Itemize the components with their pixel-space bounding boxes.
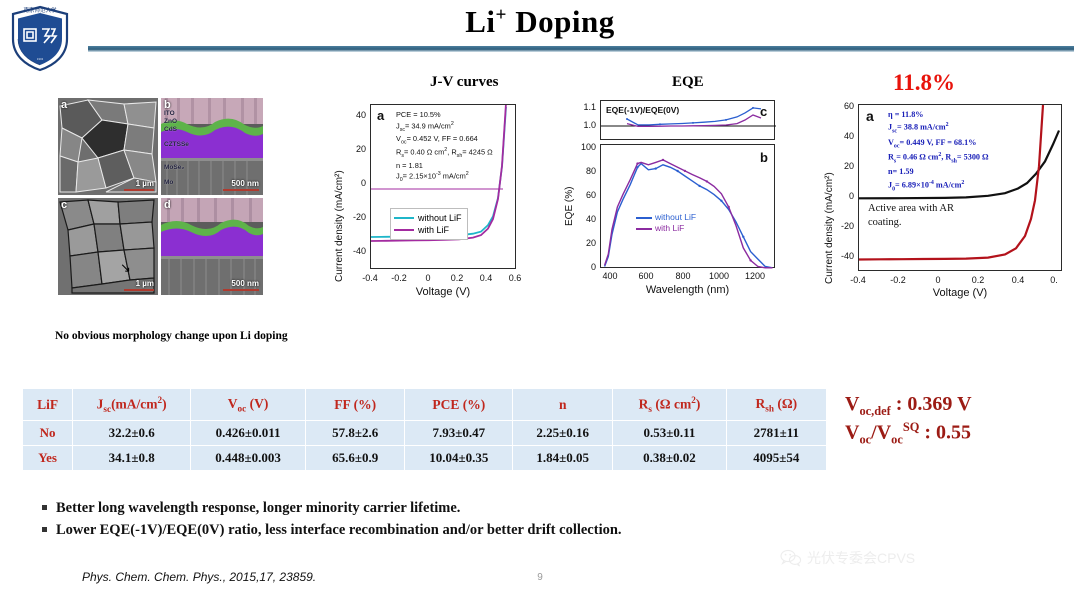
eqe-x-axis-label: Wavelength (nm) <box>600 284 775 296</box>
jv-x-tick: 0.2 <box>443 273 471 283</box>
cell-pce: 10.04±0.35 <box>405 446 513 471</box>
col-header-rs: Rs (Ω cm2) <box>613 389 726 421</box>
title-divider <box>88 46 1074 52</box>
ar-x-tick: 0 <box>924 275 952 285</box>
ar-active-area-note: Active area with AR coating. <box>868 202 978 230</box>
cell-rs: 0.38±0.02 <box>613 446 726 471</box>
ar-anno-voc: Voc= 0.449 V, FF = 68.1% <box>888 137 989 152</box>
jv-anno-n: n = 1.81 <box>396 161 493 172</box>
sem-panel-letter: c <box>61 199 67 211</box>
jv-anno-jsc: Jsc= 34.9 mA/cm2 <box>396 121 493 135</box>
watermark-text: 光伏专委会CPVS <box>807 548 915 568</box>
cell-lif: No <box>23 421 73 446</box>
jv-legend-label: with LiF <box>418 224 449 236</box>
cell-n: 2.25±0.16 <box>513 421 613 446</box>
bullet-list: Better long wavelength response, longer … <box>42 497 922 542</box>
cell-pce: 7.93±0.47 <box>405 421 513 446</box>
jv-anno-rs: Rs= 0.40 Ω cm2, Rsh= 4245 Ω <box>396 147 493 161</box>
jv-x-axis-label: Voltage (V) <box>370 286 516 298</box>
bullet-item: Lower EQE(-1V)/EQE(0V) ratio, less inter… <box>42 519 922 541</box>
jv-anno-pce: PCE = 10.5% <box>396 110 493 121</box>
jv-x-tick: 0.4 <box>472 273 500 283</box>
jv-legend-item: without LiF <box>394 212 462 224</box>
stack-label-mose2: MoSe₂ <box>164 164 184 171</box>
bullet-item: Better long wavelength response, longer … <box>42 497 922 519</box>
table-row: Yes 34.1±0.8 0.448±0.003 65.6±0.9 10.04±… <box>23 446 827 471</box>
eqe-ratio-title: EQE(-1V)/EQE(0V) <box>606 105 679 115</box>
eqe-y-tick: 0 <box>570 262 596 272</box>
pce-highlight-label: 11.8% <box>893 70 955 96</box>
ar-x-tick: -0.2 <box>884 275 912 285</box>
col-header-jsc: Jsc(mA/cm2) <box>73 389 191 421</box>
eqe-y-tick: 20 <box>570 238 596 248</box>
ar-panel-letter: a <box>866 108 874 124</box>
legend-swatch-icon <box>394 217 414 219</box>
ar-anno-eta: η = 11.8% <box>888 109 989 121</box>
sem-annotation-arrow-icon: ↘ <box>120 260 131 276</box>
watermark: 光伏专委会CPVS <box>780 548 915 568</box>
col-header-ff: FF (%) <box>305 389 404 421</box>
jv-x-tick: 0 <box>414 273 442 283</box>
device-parameters-table: LiF Jsc(mA/cm2) Voc (V) FF (%) PCE (%) n… <box>22 388 827 471</box>
ar-x-tick: -0.4 <box>844 275 872 285</box>
jv-x-tick: 0.6 <box>501 273 529 283</box>
table-row: No 32.2±0.6 0.426±0.011 57.8±2.6 7.93±0.… <box>23 421 827 446</box>
cell-voc: 0.448±0.003 <box>191 446 306 471</box>
sem-panel-d: d 500 nm <box>161 198 263 295</box>
ar-anno-n: n= 1.59 <box>888 166 989 178</box>
jv-legend-label: without LiF <box>418 212 462 224</box>
sem-panel-letter: a <box>61 99 67 111</box>
jv-legend: without LiF with LiF <box>390 208 468 240</box>
eqe-legend-item: with LiF <box>636 223 696 234</box>
svg-text:1902: 1902 <box>37 57 44 61</box>
sem-panel-a: a 1 µm <box>58 98 158 195</box>
eqe-x-tick: 1200 <box>742 271 768 281</box>
eqe-section-caption: EQE <box>672 74 704 91</box>
cell-rsh: 2781±11 <box>726 421 826 446</box>
jv-y-tick: 40 <box>344 110 366 120</box>
jv-annotation-block: PCE = 10.5% Jsc= 34.9 mA/cm2 Voc= 0.452 … <box>396 110 493 185</box>
ar-anno-j0: J0= 6.89×10-4 mA/cm2 <box>888 179 989 194</box>
ar-annotation-block: η = 11.8% Jsc= 38.8 mA/cm2 Voc= 0.449 V,… <box>888 109 989 194</box>
page-title-main: Li <box>465 4 495 39</box>
voc-ratio-value: : 0.55 <box>924 422 971 444</box>
bullet-text: Lower EQE(-1V)/EQE(0V) ratio, less inter… <box>56 519 622 541</box>
ar-anno-jsc: Jsc= 38.8 mA/cm2 <box>888 121 989 136</box>
legend-swatch-icon <box>394 229 414 231</box>
ar-x-tick: 0.2 <box>964 275 992 285</box>
ar-y-tick: 20 <box>832 161 854 171</box>
ar-coating-jv-chart: Current density (mA/cm²) 60 40 20 0 -20 … <box>822 96 1072 306</box>
ar-y-tick: -40 <box>832 251 854 261</box>
sem-scalebar: 1 µm <box>124 280 154 291</box>
bullet-square-icon <box>42 527 47 532</box>
eqe-ratio-y-tick: 1.1 <box>574 102 596 112</box>
ar-x-tick: 0. <box>1040 275 1068 285</box>
col-header-pce: PCE (%) <box>405 389 513 421</box>
bullet-square-icon <box>42 505 47 510</box>
cell-lif: Yes <box>23 446 73 471</box>
ar-y-tick: -20 <box>832 221 854 231</box>
wechat-icon <box>780 549 802 567</box>
sem-scalebar: 1 µm <box>124 180 154 191</box>
eqe-ratio-panel-letter: c <box>760 104 767 119</box>
eqe-x-tick: 1000 <box>706 271 732 281</box>
cell-jsc: 32.2±0.6 <box>73 421 191 446</box>
sem-panel-b: b ITO ZnO CdS CZTSSe MoSe₂ Mo 500 nm <box>161 98 263 195</box>
voc-ratio-line: Voc/VocSQ : 0.55 <box>845 420 972 449</box>
legend-swatch-icon <box>636 228 652 230</box>
cell-n: 1.84±0.05 <box>513 446 613 471</box>
eqe-legend-label: with LiF <box>655 223 684 234</box>
stack-label-mo: Mo <box>164 179 173 186</box>
page-title-superscript: + <box>496 5 507 26</box>
jv-y-tick: 0 <box>344 178 366 188</box>
sem-scalebar: 500 nm <box>223 280 259 291</box>
eqe-legend: without LiF with LiF <box>636 212 696 235</box>
eqe-y-tick: 80 <box>570 166 596 176</box>
jv-y-tick: -40 <box>344 246 366 256</box>
page-title: Li+ Doping <box>0 4 1080 40</box>
col-header-n: n <box>513 389 613 421</box>
stack-label-cds: CdS <box>164 126 177 133</box>
sem-image-panel: a 1 µm <box>58 98 263 300</box>
cell-jsc: 34.1±0.8 <box>73 446 191 471</box>
eqe-legend-label: without LiF <box>655 212 696 223</box>
legend-swatch-icon <box>636 217 652 219</box>
col-header-rsh: Rsh (Ω) <box>726 389 826 421</box>
jv-x-tick: -0.4 <box>356 273 384 283</box>
ar-x-axis-label: Voltage (V) <box>858 287 1062 299</box>
stack-label-zno: ZnO <box>164 118 177 125</box>
slide-root: 南京师范大学 1902 Li+ Doping J-V curves EQE 11… <box>0 0 1080 608</box>
sem-panel-letter: d <box>164 199 171 211</box>
sem-scalebar: 500 nm <box>223 180 259 191</box>
stack-label-ito: ITO <box>164 110 175 117</box>
ar-anno-rs: Rs= 0.46 Ω cm2, Rsh= 5300 Ω <box>888 151 989 166</box>
table-header-row: LiF Jsc(mA/cm2) Voc (V) FF (%) PCE (%) n… <box>23 389 827 421</box>
eqe-panel-letter: b <box>760 150 768 165</box>
voc-def-line: Voc,def : 0.369 V <box>845 392 972 420</box>
bullet-text: Better long wavelength response, longer … <box>56 497 460 519</box>
sem-caption: No obvious morphology change upon Li dop… <box>55 330 355 342</box>
ar-y-tick: 60 <box>832 101 854 111</box>
jv-anno-voc: Voc= 0.452 V, FF = 0.664 <box>396 134 493 147</box>
eqe-y-axis-label: EQE (%) <box>564 187 575 226</box>
page-title-rest: Doping <box>507 4 615 39</box>
jv-curves-chart: Current density (mA/cm²) 40 20 0 -20 -40… <box>332 96 522 306</box>
eqe-x-tick: 600 <box>634 271 658 281</box>
eqe-chart: 1.1 1.0 EQE(-1V)/EQE(0V) c 100 80 60 40 … <box>578 96 796 306</box>
jv-x-tick: -0.2 <box>385 273 413 283</box>
ar-y-tick: 40 <box>832 131 854 141</box>
voc-def-value: : 0.369 V <box>896 393 972 415</box>
cell-ff: 65.6±0.9 <box>305 446 404 471</box>
cell-rsh: 4095±54 <box>726 446 826 471</box>
eqe-y-tick: 100 <box>570 142 596 152</box>
jv-legend-item: with LiF <box>394 224 462 236</box>
eqe-x-tick: 800 <box>671 271 695 281</box>
cell-rs: 0.53±0.11 <box>613 421 726 446</box>
eqe-legend-item: without LiF <box>636 212 696 223</box>
col-header-voc: Voc (V) <box>191 389 306 421</box>
ar-y-tick: 0 <box>832 191 854 201</box>
jv-y-tick: -20 <box>344 212 366 222</box>
eqe-plot-area <box>600 144 775 268</box>
cell-ff: 57.8±2.6 <box>305 421 404 446</box>
sem-panel-c: c ↘ 1 µm <box>58 198 158 295</box>
voc-summary-note: Voc,def : 0.369 V Voc/VocSQ : 0.55 <box>845 392 972 448</box>
ar-x-tick: 0.4 <box>1004 275 1032 285</box>
cell-voc: 0.426±0.011 <box>191 421 306 446</box>
jv-panel-letter: a <box>377 108 384 123</box>
eqe-x-tick: 400 <box>598 271 622 281</box>
jv-anno-j0: J0= 2.15×10-3 mA/cm2 <box>396 171 493 185</box>
col-header-lif: LiF <box>23 389 73 421</box>
stack-label-cztsse: CZTSSe <box>164 141 189 148</box>
eqe-ratio-y-tick: 1.0 <box>574 120 596 130</box>
jv-y-tick: 20 <box>344 144 366 154</box>
jv-section-caption: J-V curves <box>430 74 498 91</box>
page-number: 9 <box>0 572 1080 583</box>
